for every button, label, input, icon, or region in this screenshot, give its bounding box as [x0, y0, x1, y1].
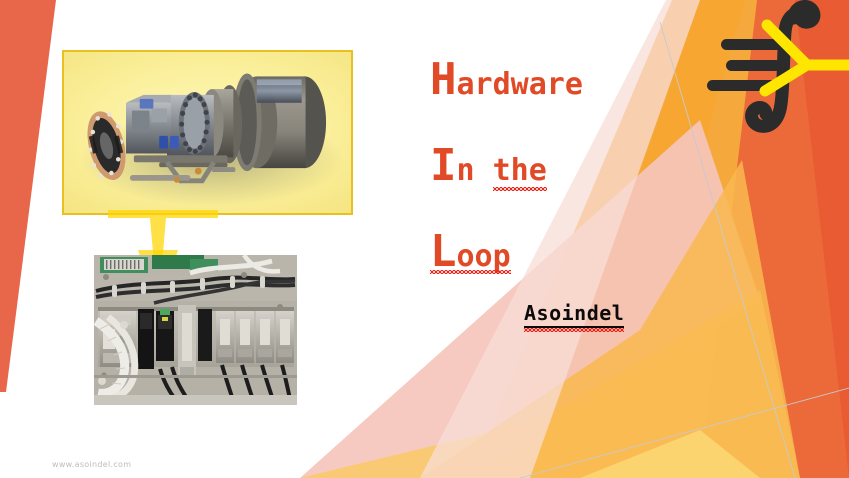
slide-title: Hardware In the Loop: [430, 62, 690, 272]
title-rest-loop: oop: [457, 239, 511, 274]
logo-bar-2: [726, 60, 781, 71]
title-rest-in: n: [457, 153, 493, 188]
left-orange-wedge: [0, 0, 56, 392]
title-cap-h: H: [430, 54, 457, 105]
title-cap-i: I: [430, 140, 457, 191]
title-line-in-the: In the: [430, 148, 690, 186]
presentation-slide: Hardware In the Loop Asoindel www.asoind…: [0, 0, 849, 478]
logo-bar-1: [721, 39, 784, 50]
control-cabinet-photo: [94, 255, 297, 405]
brand-name: Asoindel: [524, 301, 624, 328]
title-cap-l-text: L: [430, 226, 457, 277]
brand-block: Asoindel: [524, 301, 624, 328]
title-rest-hardware: ardware: [457, 67, 583, 102]
misspelled-word-the: the: [493, 156, 547, 186]
footer-url: www.asoindel.com: [52, 460, 131, 469]
gearbox-assembly-photo: [62, 50, 353, 215]
asoindel-logo: [676, 0, 849, 136]
title-cap-l: Loop: [430, 234, 511, 269]
title-line-hardware: Hardware: [430, 62, 690, 100]
title-line-loop: Loop: [430, 234, 690, 272]
